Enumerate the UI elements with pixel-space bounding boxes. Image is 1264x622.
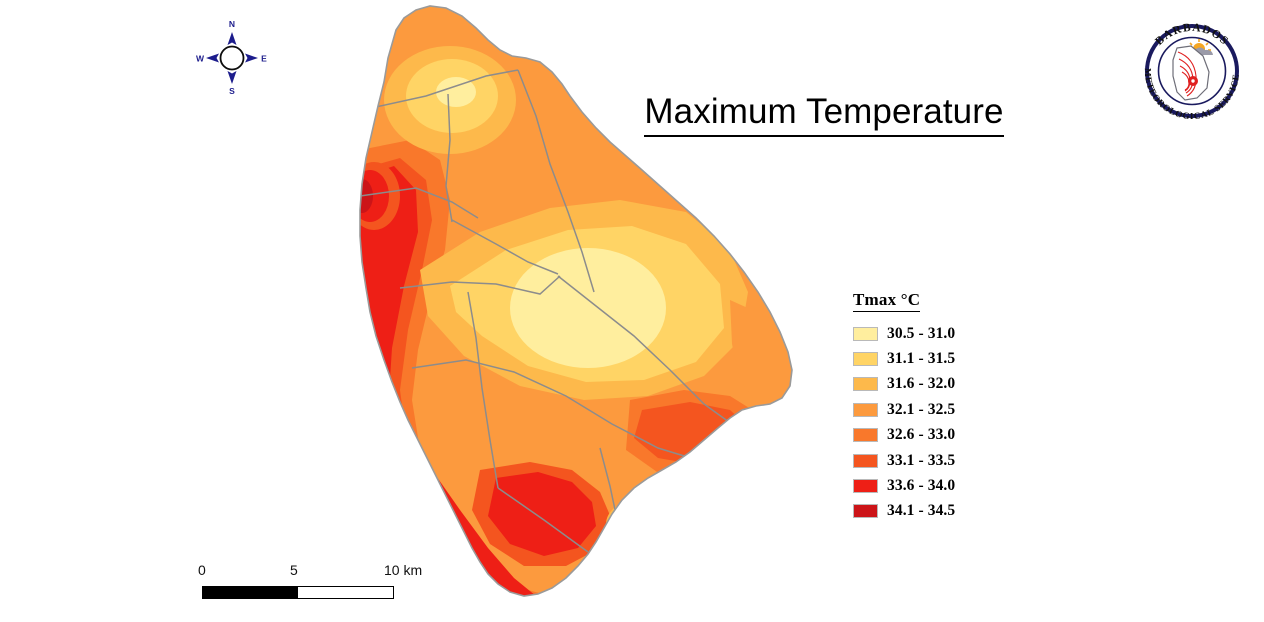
west-arrow-needle — [206, 54, 219, 63]
legend-label: 32.1 - 32.5 — [887, 401, 955, 419]
legend-swatch — [853, 377, 878, 391]
scale-bar: 0 5 10 km — [198, 562, 398, 604]
legend-row[interactable]: 33.6 - 34.0 — [853, 473, 1013, 498]
compass-label-west: W — [196, 54, 205, 64]
legend-row[interactable]: 32.1 - 32.5 — [853, 397, 1013, 422]
compass-label-east: E — [261, 54, 267, 64]
agency-logo: BARBADOS METEOROLOGICAL SERVICES — [1133, 12, 1251, 130]
legend-label: 31.6 - 32.0 — [887, 375, 955, 393]
legend-row[interactable]: 31.6 - 32.0 — [853, 372, 1013, 397]
band-30.5-31.0-central-core — [510, 248, 666, 368]
east-arrow-needle — [245, 54, 258, 63]
legend-label: 31.1 - 31.5 — [887, 350, 955, 368]
legend-swatch — [853, 352, 878, 366]
legend-row[interactable]: 31.1 - 31.5 — [853, 346, 1013, 371]
legend-row[interactable]: 34.1 - 34.5 — [853, 499, 1013, 524]
band-34.1-34.5-sw-core — [382, 470, 438, 530]
legend-row[interactable]: 33.1 - 33.5 — [853, 448, 1013, 473]
scale-label-0: 0 — [198, 562, 206, 578]
legend-items: 30.5 - 31.031.1 - 31.531.6 - 32.032.1 - … — [853, 321, 1013, 524]
legend-swatch — [853, 504, 878, 518]
compass-label-south: S — [229, 86, 235, 96]
compass-label-north: N — [229, 19, 235, 29]
temperature-map — [300, 0, 820, 622]
legend-label: 33.1 - 33.5 — [887, 452, 955, 470]
legend-swatch — [853, 454, 878, 468]
map-page: N S W E Maximum Temperature — [0, 0, 1264, 622]
legend-label: 30.5 - 31.0 — [887, 325, 955, 343]
scale-bar-labels: 0 5 10 km — [198, 562, 398, 582]
scale-label-5: 5 — [290, 562, 298, 578]
logo-storm-eye — [1191, 79, 1194, 82]
scale-label-10: 10 km — [384, 562, 422, 578]
north-arrow-needle — [228, 32, 237, 45]
legend-label: 33.6 - 34.0 — [887, 477, 955, 495]
scale-bar-graphic — [202, 586, 394, 599]
legend-row[interactable]: 30.5 - 31.0 — [853, 321, 1013, 346]
band-31.1-31.5-se-pocket — [632, 517, 660, 539]
legend-swatch — [853, 479, 878, 493]
legend-swatch — [853, 403, 878, 417]
legend-label: 34.1 - 34.5 — [887, 502, 955, 520]
scale-bar-segment-filled — [203, 587, 298, 598]
legend-title: Tmax °C — [853, 290, 920, 312]
legend: Tmax °C 30.5 - 31.031.1 - 31.531.6 - 32.… — [853, 290, 1013, 524]
map-raster — [300, 0, 820, 622]
south-arrow-needle — [228, 71, 237, 84]
legend-row[interactable]: 32.6 - 33.0 — [853, 423, 1013, 448]
band-31.6-32.0-se-pocket — [606, 500, 670, 548]
legend-label: 32.6 - 33.0 — [887, 426, 955, 444]
scale-bar-segment-empty — [298, 587, 393, 598]
legend-swatch — [853, 327, 878, 341]
legend-swatch — [853, 428, 878, 442]
compass-circle — [221, 47, 244, 70]
north-arrow: N S W E — [196, 14, 268, 96]
